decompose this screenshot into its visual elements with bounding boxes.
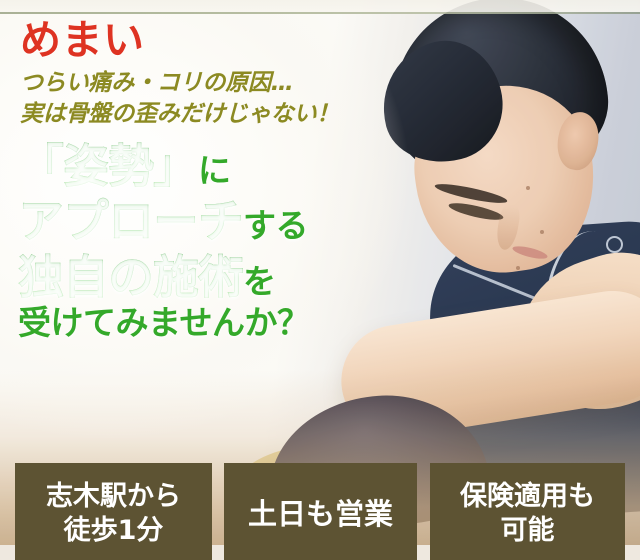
subtitle-text: つらい痛み・コリの原因… 実は骨盤の歪みだけじゃない！	[20, 68, 418, 129]
badge-weekend-hours-label: 土日も営業	[248, 496, 393, 532]
badge-insurance[interactable]: 保険適用も 可能	[430, 463, 625, 560]
badge-access-label: 志木駅から 徒歩1分	[46, 480, 181, 548]
skin-mole	[516, 266, 520, 270]
badge-insurance-label: 保険適用も 可能	[460, 480, 595, 548]
skin-mole	[540, 230, 544, 234]
headline-quoted-keyword: 「姿勢」	[18, 139, 198, 193]
top-divider-rule	[0, 12, 640, 14]
badge-access[interactable]: 志木駅から 徒歩1分	[15, 463, 212, 560]
headline-treatment-keyword: 独自の施術	[18, 250, 243, 304]
skin-mole	[526, 186, 530, 190]
uniform-button	[606, 236, 623, 253]
hero-banner: めまい つらい痛み・コリの原因… 実は骨盤の歪みだけじゃない！ 「姿勢」に アプ…	[0, 0, 640, 560]
headline-line-4: 受けてみませんか？	[18, 304, 418, 343]
headline-line-1-tail: に	[198, 151, 231, 190]
headline-line-2: アプローチする	[18, 194, 418, 248]
feature-badge-row: 志木駅から 徒歩1分 土日も営業 保険適用も 可能	[0, 440, 640, 560]
headline-approach-keyword: アプローチ	[18, 194, 243, 248]
badge-weekend-hours[interactable]: 土日も営業	[224, 463, 417, 560]
headline-copy-block: めまい つらい痛み・コリの原因… 実は骨盤の歪みだけじゃない！ 「姿勢」に アプ…	[18, 18, 418, 345]
headline-line-2-tail: する	[243, 206, 308, 245]
top-band	[0, 0, 640, 12]
headline-line-1: 「姿勢」に	[18, 139, 418, 193]
headline-line-3: 独自の施術を	[18, 250, 418, 304]
headline-line-3-tail: を	[243, 262, 276, 301]
keyword-symptom: めまい	[20, 18, 418, 62]
